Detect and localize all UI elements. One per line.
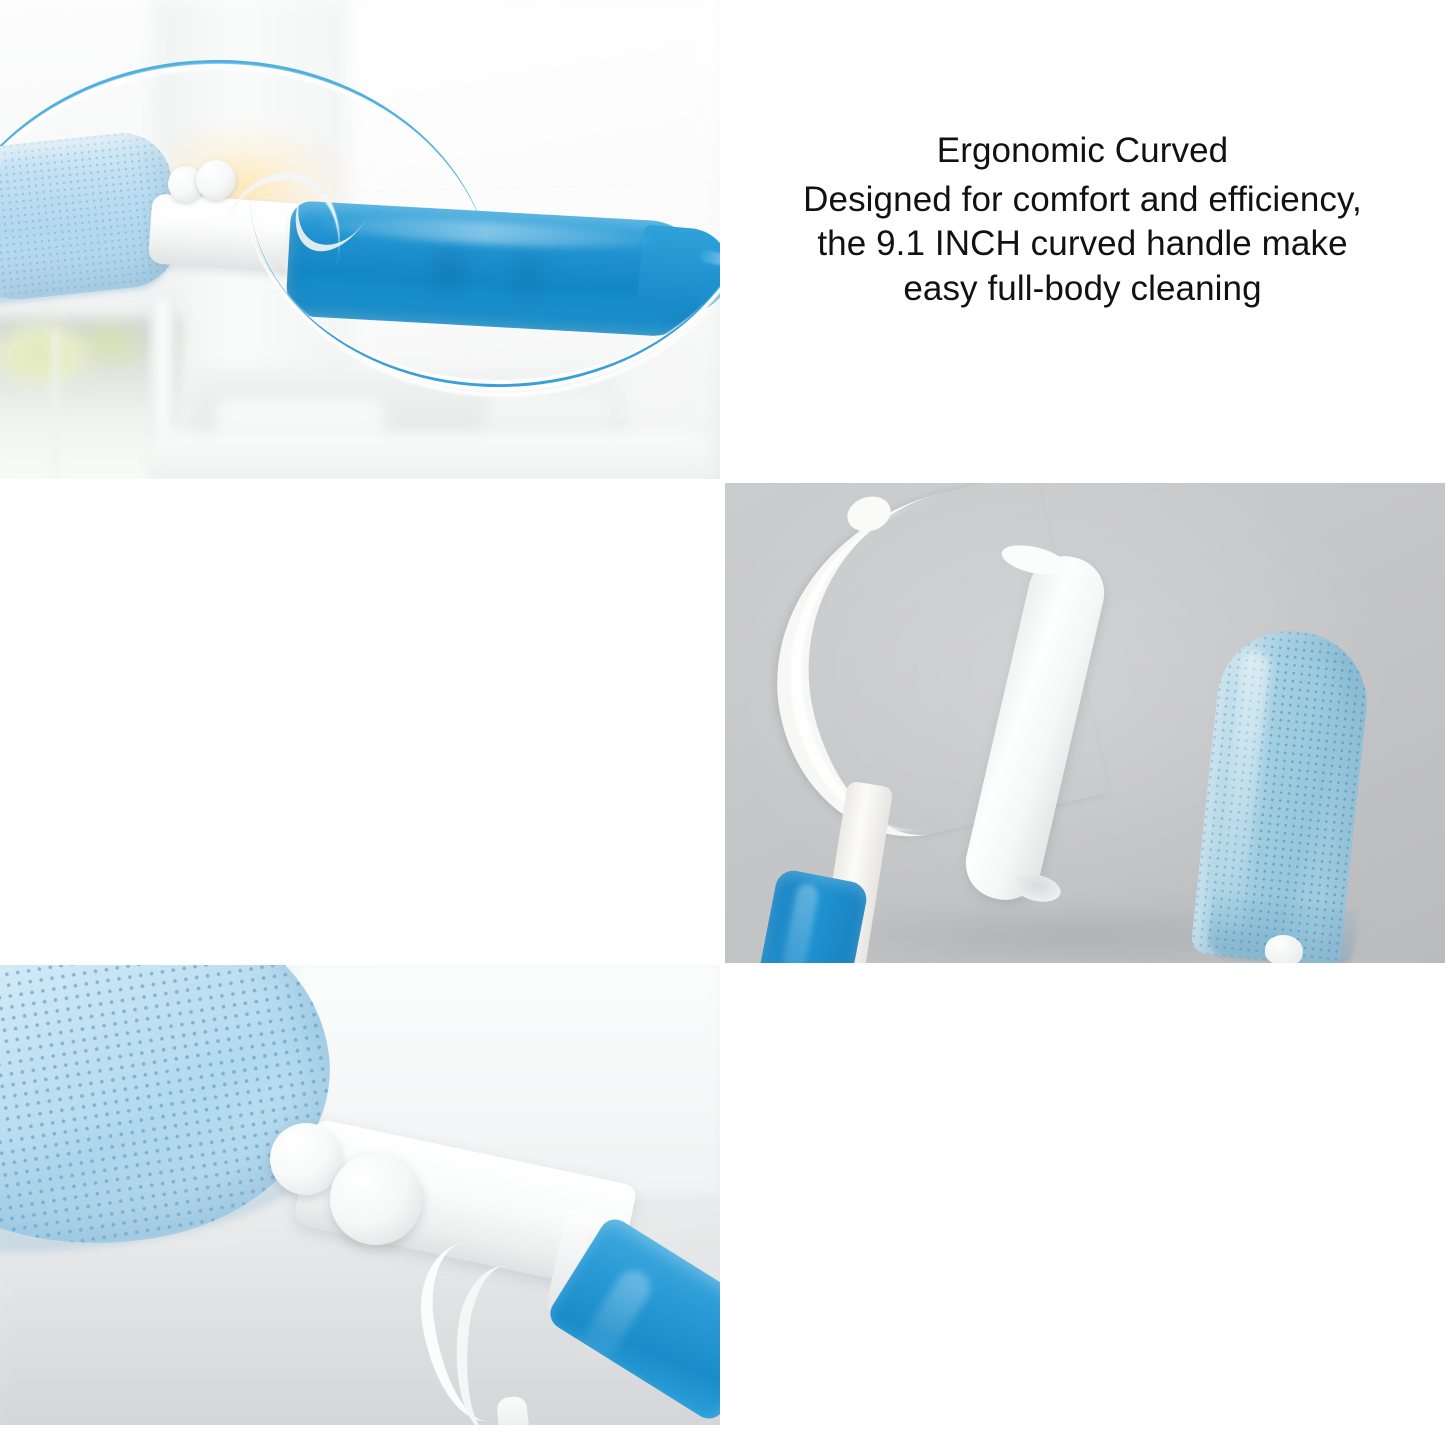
panel-top-left-photo	[0, 0, 720, 479]
product-infographic-page: Ergonomic Curved Designed for comfort an…	[0, 0, 1445, 1445]
feature-body-line: the 9.1 INCH curved handle make	[746, 222, 1419, 267]
disassembled-parts-photo	[725, 483, 1445, 963]
feature-body-line: Designed for comfort and efficiency,	[746, 178, 1419, 223]
adjustable-button-knob	[330, 1153, 422, 1245]
feature-block-ergonomic-curved: Ergonomic Curved Designed for comfort an…	[720, 128, 1445, 312]
feature-body-line: easy full-body cleaning	[746, 267, 1419, 312]
adjustable-buttons-closeup-photo	[0, 965, 720, 1445]
background-sofa-seat	[150, 432, 710, 479]
feature-title: Ergonomic Curved	[746, 128, 1419, 174]
panel-middle-left-text: Detachable Brush HeadHandle Easy to clea…	[0, 483, 720, 963]
panel-bottom-right-text: Two Adjustable Buttons Removable brush h…	[725, 965, 1445, 1445]
adjustable-button-knob	[196, 160, 236, 200]
photo-bottom-edge	[0, 1425, 720, 1445]
ergonomic-handle-photo	[0, 0, 720, 479]
feature-body: Designed for comfort and efficiency, the…	[746, 178, 1419, 312]
window-mullion	[52, 330, 59, 479]
panel-top-right-text: Ergonomic Curved Designed for comfort an…	[720, 0, 1445, 479]
panel-middle-right-photo	[725, 483, 1445, 963]
panel-bottom-left-photo	[0, 965, 720, 1445]
